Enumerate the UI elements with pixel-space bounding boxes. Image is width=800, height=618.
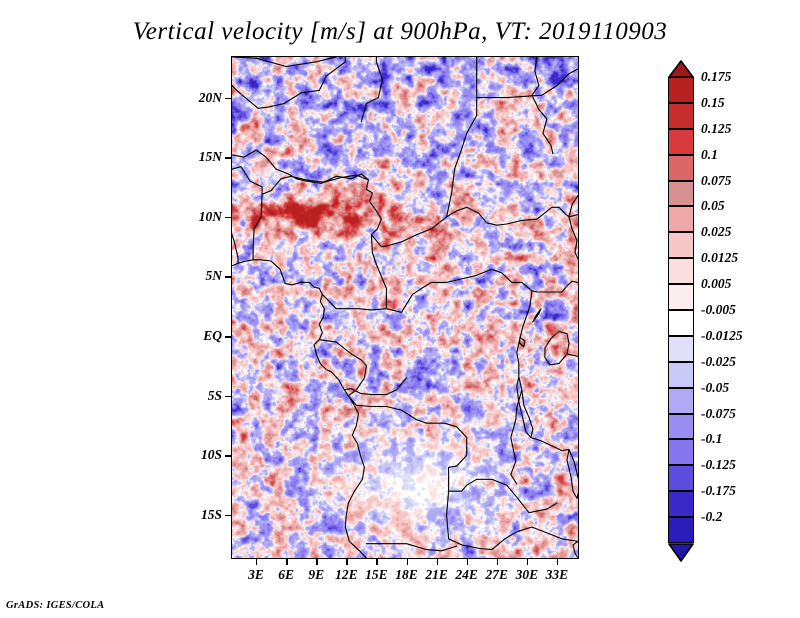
colorbar-band bbox=[668, 439, 694, 465]
colorbar-band bbox=[668, 77, 694, 103]
colorbar-band-swatch bbox=[668, 388, 694, 414]
colorbar-band bbox=[668, 103, 694, 129]
colorbar-band-swatch bbox=[668, 206, 694, 232]
x-tick bbox=[346, 559, 347, 565]
y-axis-label: 10N bbox=[190, 209, 222, 225]
colorbar-band bbox=[668, 388, 694, 414]
x-axis-label: 30E bbox=[516, 567, 539, 583]
colorbar: 0.1750.150.1250.10.0750.050.0250.01250.0… bbox=[668, 60, 698, 560]
colorbar-band-swatch bbox=[668, 284, 694, 310]
colorbar-band-swatch bbox=[668, 517, 694, 543]
x-axis-label: 18E bbox=[395, 567, 418, 583]
y-tick bbox=[225, 455, 231, 456]
colorbar-band-swatch bbox=[668, 336, 694, 362]
colorbar-extend-low-arrow bbox=[668, 543, 694, 562]
colorbar-tick-label: -0.005 bbox=[701, 302, 736, 318]
colorbar-tick-label: -0.05 bbox=[701, 380, 729, 396]
colorbar-band-swatch bbox=[668, 414, 694, 440]
colorbar-tick-label: 0.1 bbox=[701, 147, 718, 163]
colorbar-tick-label: -0.175 bbox=[701, 483, 736, 499]
colorbar-band bbox=[668, 362, 694, 388]
colorbar-band-swatch bbox=[668, 103, 694, 129]
colorbar-band bbox=[668, 232, 694, 258]
y-tick bbox=[225, 396, 231, 397]
colorbar-band-swatch bbox=[668, 465, 694, 491]
colorbar-band-swatch bbox=[668, 181, 694, 207]
map-plot-area bbox=[232, 57, 578, 558]
colorbar-band-swatch bbox=[668, 258, 694, 284]
x-axis-label: 12E bbox=[335, 567, 358, 583]
y-tick bbox=[225, 336, 231, 337]
colorbar-extend-high-arrow bbox=[668, 60, 694, 78]
x-tick bbox=[557, 559, 558, 565]
y-axis-label: 15S bbox=[190, 507, 222, 523]
x-tick bbox=[407, 559, 408, 565]
x-axis-label: 27E bbox=[485, 567, 508, 583]
x-tick bbox=[256, 559, 257, 565]
colorbar-band-swatch bbox=[668, 232, 694, 258]
x-axis-label: 24E bbox=[455, 567, 478, 583]
colorbar-band-swatch bbox=[668, 362, 694, 388]
colorbar-tick-label: -0.075 bbox=[701, 406, 736, 422]
y-axis-label: EQ bbox=[190, 328, 222, 344]
y-axis-label: 10S bbox=[190, 447, 222, 463]
colorbar-tick-label: 0.075 bbox=[701, 173, 731, 189]
colorbar-band bbox=[668, 491, 694, 517]
y-axis-label: 5N bbox=[190, 268, 222, 284]
x-axis-label: 9E bbox=[308, 567, 324, 583]
colorbar-tick-label: -0.1 bbox=[701, 431, 722, 447]
x-tick bbox=[286, 559, 287, 565]
country-borders-overlay bbox=[232, 57, 578, 558]
colorbar-tick-label: 0.05 bbox=[701, 198, 725, 214]
x-axis-label: 21E bbox=[425, 567, 448, 583]
colorbar-tick-label: -0.025 bbox=[701, 354, 736, 370]
page-title: Vertical velocity [m/s] at 900hPa, VT: 2… bbox=[0, 18, 800, 46]
colorbar-tick-label: 0.125 bbox=[701, 121, 731, 137]
y-axis-label: 15N bbox=[190, 149, 222, 165]
x-tick bbox=[467, 559, 468, 565]
x-axis-label: 3E bbox=[248, 567, 264, 583]
y-tick bbox=[225, 515, 231, 516]
x-axis-label: 6E bbox=[278, 567, 294, 583]
y-tick bbox=[225, 276, 231, 277]
colorbar-band bbox=[668, 206, 694, 232]
colorbar-band bbox=[668, 258, 694, 284]
colorbar-band bbox=[668, 155, 694, 181]
colorbar-band-swatch bbox=[668, 155, 694, 181]
x-axis-label: 15E bbox=[365, 567, 388, 583]
y-tick bbox=[225, 98, 231, 99]
colorbar-band bbox=[668, 181, 694, 207]
x-tick bbox=[316, 559, 317, 565]
colorbar-tick-label: 0.15 bbox=[701, 95, 725, 111]
x-tick bbox=[376, 559, 377, 565]
colorbar-tick-label: -0.0125 bbox=[701, 328, 743, 344]
colorbar-band bbox=[668, 284, 694, 310]
colorbar-tick-label: 0.0125 bbox=[701, 250, 738, 266]
x-tick bbox=[527, 559, 528, 565]
y-tick bbox=[225, 157, 231, 158]
colorbar-band bbox=[668, 414, 694, 440]
y-tick bbox=[225, 217, 231, 218]
x-tick bbox=[497, 559, 498, 565]
colorbar-band-swatch bbox=[668, 491, 694, 517]
colorbar-band bbox=[668, 517, 694, 543]
colorbar-band bbox=[668, 336, 694, 362]
colorbar-tick-label: -0.125 bbox=[701, 457, 736, 473]
colorbar-band bbox=[668, 465, 694, 491]
grads-credit: GrADS: IGES/COLA bbox=[6, 600, 104, 611]
colorbar-band-swatch bbox=[668, 310, 694, 336]
colorbar-band bbox=[668, 129, 694, 155]
y-axis-label: 5S bbox=[190, 388, 222, 404]
x-tick bbox=[437, 559, 438, 565]
colorbar-band-swatch bbox=[668, 439, 694, 465]
colorbar-band bbox=[668, 310, 694, 336]
y-axis-label: 20N bbox=[190, 90, 222, 106]
colorbar-band-swatch bbox=[668, 77, 694, 103]
colorbar-tick-label: -0.2 bbox=[701, 509, 722, 525]
colorbar-tick-label: 0.175 bbox=[701, 69, 731, 85]
colorbar-tick-label: 0.005 bbox=[701, 276, 731, 292]
x-axis-label: 33E bbox=[546, 567, 569, 583]
colorbar-band-swatch bbox=[668, 129, 694, 155]
colorbar-tick-label: 0.025 bbox=[701, 224, 731, 240]
coastline-and-border-path bbox=[232, 57, 578, 558]
